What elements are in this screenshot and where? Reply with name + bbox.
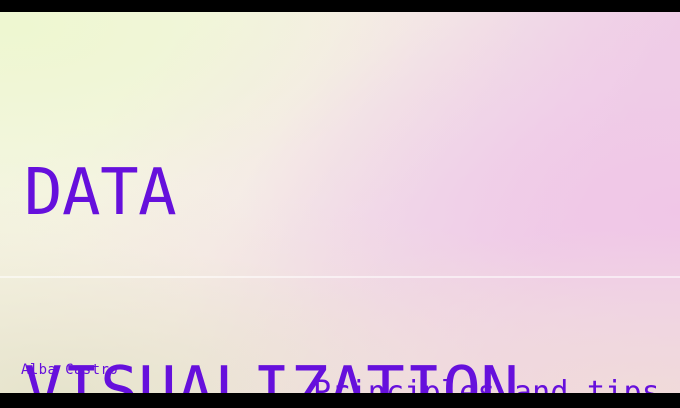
subtitle-line-1: Principles and tips <box>313 374 660 393</box>
headline-line-1: DATA <box>24 160 518 226</box>
author-byline: Alba Castro <box>21 361 118 379</box>
letterbox-bar-top <box>0 0 680 12</box>
slide-canvas: DATA VISUALIZATION BASICS Principles and… <box>0 12 680 393</box>
letterbox-bar-bottom <box>0 393 680 408</box>
slide-subtitle: Principles and tips on data analysis <box>313 298 660 393</box>
title-slide: DATA VISUALIZATION BASICS Principles and… <box>0 0 680 408</box>
